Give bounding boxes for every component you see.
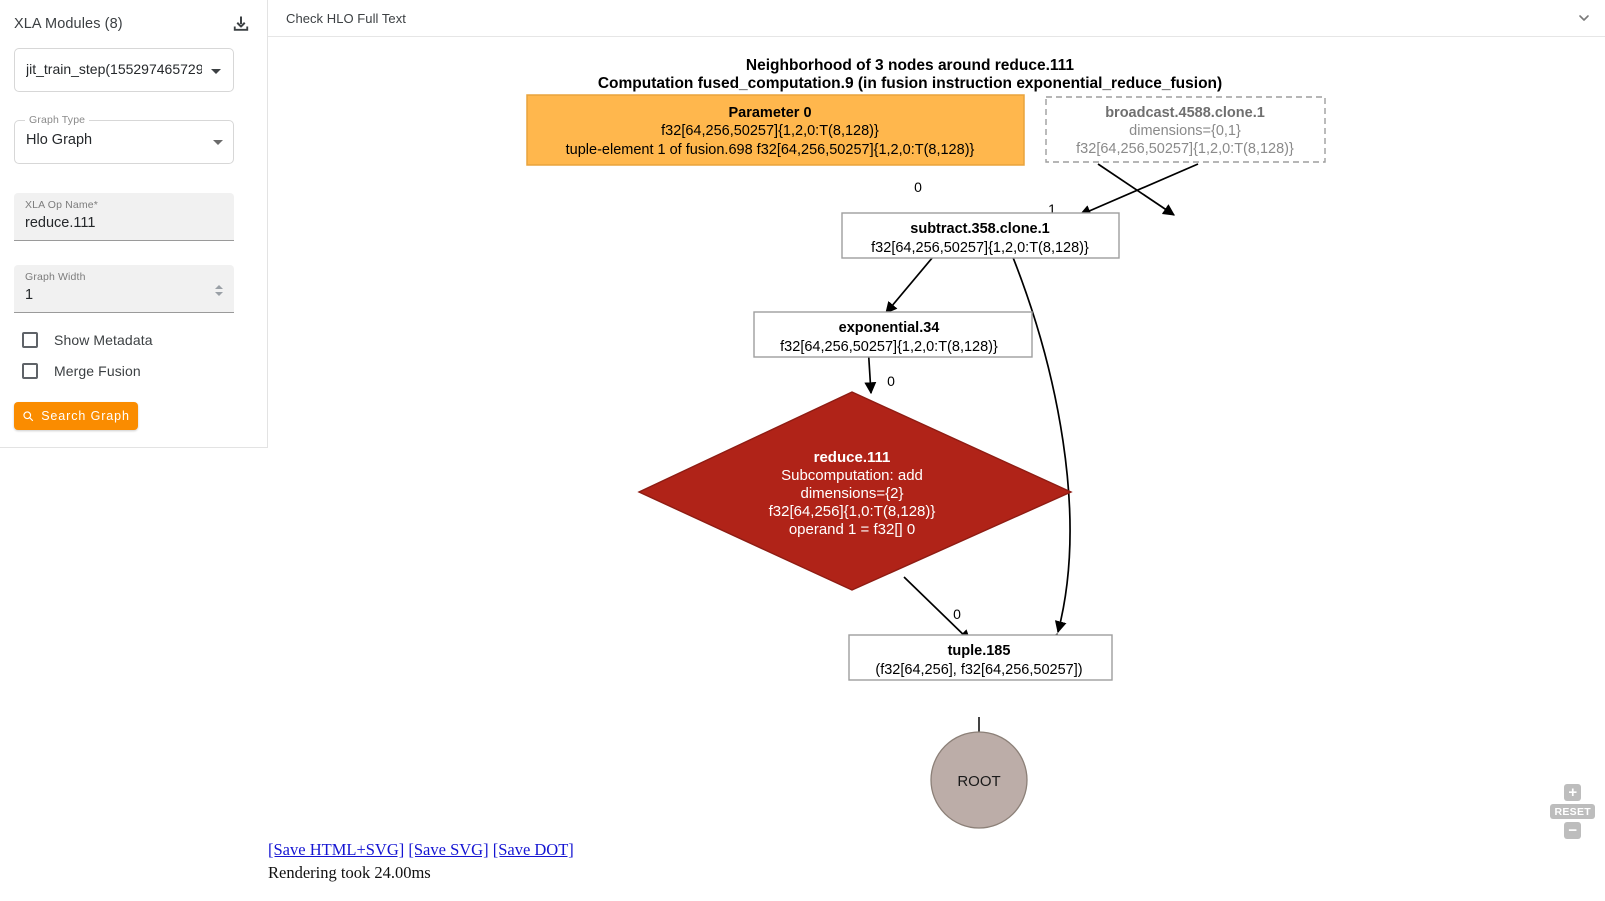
graph-width-value: 1 — [25, 287, 33, 303]
xla-op-name-value: reduce.111 — [25, 215, 95, 231]
reduce-subcomputation: Subcomputation: add — [781, 467, 923, 484]
edge-label-param-to-subtract: 0 — [914, 179, 922, 195]
xla-op-name-label: XLA Op Name* — [25, 199, 98, 211]
download-icon[interactable] — [230, 13, 252, 35]
checkbox-box-icon[interactable] — [22, 332, 38, 348]
broadcast-title: broadcast.4588.clone.1 — [1105, 105, 1265, 121]
tuple-shape: (f32[64,256], f32[64,256,50257]) — [875, 662, 1082, 678]
exponential-title: exponential.34 — [839, 320, 940, 336]
graph-title-line1: Neighborhood of 3 nodes around reduce.11… — [746, 57, 1075, 74]
sidebar-header: XLA Modules (8) — [0, 0, 268, 46]
sidebar: XLA Modules (8) jit_train_step(155297465… — [0, 0, 268, 448]
stepper-up-icon[interactable] — [215, 285, 223, 289]
graph-canvas[interactable]: Neighborhood of 3 nodes around reduce.11… — [268, 37, 1605, 901]
subtract-node[interactable]: subtract.358.clone.1 f32[64,256,50257]{1… — [842, 213, 1119, 258]
checkbox-show-metadata-label: Show Metadata — [54, 332, 153, 348]
search-graph-button-label: Search Graph — [41, 409, 130, 423]
module-select[interactable]: jit_train_step(1552974657299… — [14, 48, 234, 92]
subtract-shape: f32[64,256,50257]{1,2,0:T(8,128)} — [871, 240, 1089, 256]
zoom-controls: + RESET − — [1550, 784, 1595, 839]
exponential-shape: f32[64,256,50257]{1,2,0:T(8,128)} — [780, 339, 998, 355]
render-time-text: Rendering took 24.00ms — [268, 863, 968, 883]
exponential-node[interactable]: exponential.34 f32[64,256,50257]{1,2,0:T… — [754, 312, 1032, 357]
search-graph-button[interactable]: Search Graph — [14, 402, 138, 430]
graph-type-select[interactable]: Graph Type Hlo Graph — [14, 120, 234, 164]
parameter-0-shape: f32[64,256,50257]{1,2,0:T(8,128)} — [661, 123, 879, 139]
parameter-0-node[interactable]: Parameter 0 f32[64,256,50257]{1,2,0:T(8,… — [527, 95, 1024, 165]
check-hlo-full-text-label[interactable]: Check HLO Full Text — [286, 11, 406, 26]
broadcast-dimensions: dimensions={0,1} — [1129, 123, 1241, 139]
graph-title-line2: Computation fused_computation.9 (in fusi… — [598, 75, 1222, 92]
zoom-reset-button[interactable]: RESET — [1550, 804, 1595, 819]
graph-width-label: Graph Width — [25, 271, 86, 283]
search-icon — [22, 410, 34, 422]
save-html-svg-link[interactable]: [Save HTML+SVG] — [268, 840, 404, 859]
stepper-down-icon[interactable] — [215, 292, 223, 296]
xla-graph-viewer: XLA Modules (8) jit_train_step(155297465… — [0, 0, 1605, 901]
zoom-out-button[interactable]: − — [1564, 822, 1581, 839]
module-select-value: jit_train_step(1552974657299… — [26, 61, 202, 77]
reduce-shape: f32[64,256]{1,0:T(8,128)} — [769, 503, 936, 520]
graph-type-label: Graph Type — [25, 114, 89, 126]
checkbox-merge-fusion[interactable]: Merge Fusion — [22, 363, 141, 379]
edge-parameter0-to-subtract — [1098, 164, 1174, 215]
xla-op-name-field[interactable]: XLA Op Name* reduce.111 — [14, 193, 234, 241]
subtract-title: subtract.358.clone.1 — [910, 221, 1049, 237]
broadcast-shape: f32[64,256,50257]{1,2,0:T(8,128)} — [1076, 141, 1294, 157]
edge-label-exp-to-reduce: 0 — [887, 373, 895, 389]
reduce-title: reduce.111 — [814, 449, 891, 466]
graph-type-value: Hlo Graph — [26, 132, 92, 148]
chevron-down-icon[interactable] — [1576, 10, 1592, 26]
reduce-111-node[interactable]: reduce.111 Subcomputation: add dimension… — [639, 392, 1071, 590]
save-svg-link[interactable]: [Save SVG] — [408, 840, 488, 859]
graph-width-field[interactable]: Graph Width 1 — [14, 265, 234, 313]
footer: [Save HTML+SVG] [Save SVG] [Save DOT] Re… — [268, 840, 968, 883]
reduce-dimensions: dimensions={2} — [801, 485, 904, 502]
root-node[interactable]: ROOT — [931, 732, 1027, 828]
parameter-0-title: Parameter 0 — [728, 105, 811, 121]
edge-subtract-to-tuple — [1008, 245, 1070, 632]
checkbox-show-metadata[interactable]: Show Metadata — [22, 332, 153, 348]
chevron-down-icon — [211, 69, 221, 74]
sidebar-title: XLA Modules (8) — [14, 16, 123, 32]
root-label: ROOT — [957, 773, 1000, 790]
graph-width-stepper[interactable] — [213, 281, 224, 299]
reduce-operand: operand 1 = f32[] 0 — [789, 521, 915, 538]
tuple-185-node[interactable]: tuple.185 (f32[64,256], f32[64,256,50257… — [849, 635, 1112, 680]
tuple-title: tuple.185 — [948, 643, 1011, 659]
zoom-in-button[interactable]: + — [1564, 784, 1581, 801]
parameter-0-detail: tuple-element 1 of fusion.698 f32[64,256… — [566, 142, 975, 158]
save-links: [Save HTML+SVG] [Save SVG] [Save DOT] — [268, 840, 968, 860]
broadcast-node[interactable]: broadcast.4588.clone.1 dimensions={0,1} … — [1046, 97, 1325, 162]
chevron-down-icon — [213, 140, 223, 145]
topbar: Check HLO Full Text — [268, 0, 1605, 37]
edge-label-reduce-to-tuple: 0 — [953, 606, 961, 622]
edge-broadcast-to-subtract — [1080, 164, 1198, 215]
checkbox-box-icon[interactable] — [22, 363, 38, 379]
checkbox-merge-fusion-label: Merge Fusion — [54, 363, 141, 379]
save-dot-link[interactable]: [Save DOT] — [493, 840, 574, 859]
